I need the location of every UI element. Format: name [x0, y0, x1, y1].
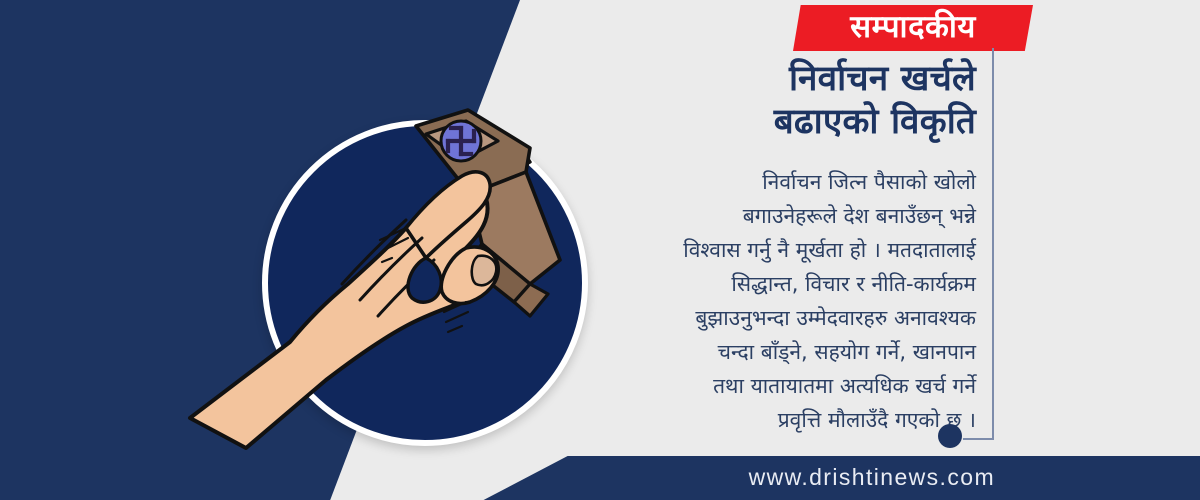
- editorial-badge: सम्पादकीय: [793, 5, 1033, 51]
- vertical-divider-rule: [992, 48, 994, 440]
- body-line: बगाउनेहरूले देश बनाउँछन् भन्ने: [560, 199, 976, 233]
- editorial-text-column: निर्वाचन खर्चले बढाएको विकृति निर्वाचन ज…: [560, 58, 976, 437]
- body-line: तथा यातायातमा अत्यधिक खर्च गर्ने: [560, 369, 976, 403]
- website-url[interactable]: www.drishtinews.com: [749, 464, 995, 491]
- headline-line-2: बढाएको विकृति: [560, 101, 976, 144]
- editorial-body: निर्वाचन जित्न पैसाको खोलो बगाउनेहरूले द…: [560, 165, 976, 437]
- body-line: बुझाउनुभन्दा उम्मेदवारहरु अनावश्यक: [560, 301, 976, 335]
- editorial-banner: सम्पादकीय निर्वाचन खर्चले बढाएको विकृति …: [0, 0, 1200, 500]
- editorial-badge-label: सम्पादकीय: [850, 12, 976, 43]
- illustration-circle: [262, 120, 588, 446]
- horizontal-divider-rule: [963, 438, 994, 440]
- body-line: प्रवृत्ति मौलाउँदै गएको छ ।: [560, 403, 976, 437]
- body-line: निर्वाचन जित्न पैसाको खोलो: [560, 165, 976, 199]
- body-line: विश्वास गर्नु नै मूर्खता हो । मतदातालाई: [560, 233, 976, 267]
- headline-line-1: निर्वाचन खर्चले: [560, 58, 976, 101]
- body-line: चन्दा बाँड्ने, सहयोग गर्ने, खानपान: [560, 335, 976, 369]
- divider-dot: [938, 424, 962, 448]
- body-line: सिद्धान्त, विचार र नीति-कार्यक्रम: [560, 267, 976, 301]
- page-title: निर्वाचन खर्चले बढाएको विकृति: [560, 58, 976, 145]
